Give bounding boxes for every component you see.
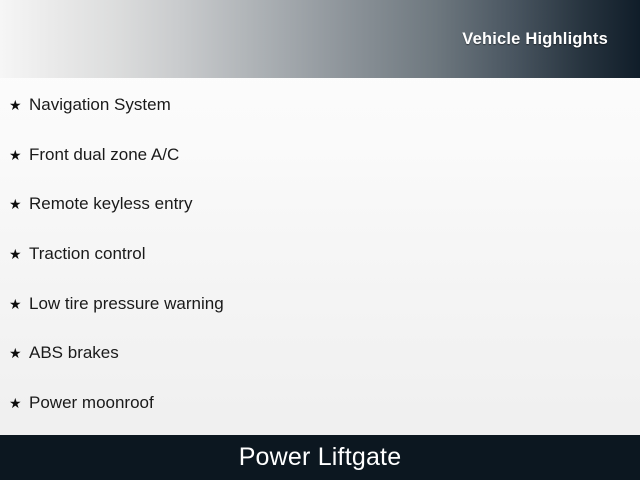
page-title: Vehicle Highlights	[462, 31, 608, 48]
star-icon: ★	[9, 148, 29, 162]
star-icon: ★	[9, 396, 29, 410]
header-banner: Vehicle Highlights	[0, 0, 640, 78]
list-item-label: Remote keyless entry	[29, 195, 640, 212]
list-item-label: ABS brakes	[29, 344, 640, 361]
list-item: ★ Remote keyless entry	[0, 195, 640, 245]
list-item-label: Low tire pressure warning	[29, 295, 640, 312]
star-icon: ★	[9, 197, 29, 211]
vehicle-highlights-list: ★ Navigation System ★ Front dual zone A/…	[0, 78, 640, 435]
star-icon: ★	[9, 98, 29, 112]
list-item: ★ ABS brakes	[0, 344, 640, 394]
footer-caption-bar: Power Liftgate	[0, 435, 640, 480]
list-item: ★ Front dual zone A/C	[0, 146, 640, 196]
star-icon: ★	[9, 247, 29, 261]
list-item: ★ Low tire pressure warning	[0, 295, 640, 345]
star-icon: ★	[9, 297, 29, 311]
list-item: ★ Navigation System	[0, 96, 640, 146]
list-item-label: Traction control	[29, 245, 640, 262]
vehicle-highlights-panel: Vehicle Highlights ★ Navigation System ★…	[0, 0, 640, 480]
list-item: ★ Power moonroof	[0, 394, 640, 435]
footer-caption: Power Liftgate	[239, 445, 402, 470]
list-item-label: Navigation System	[29, 96, 640, 113]
list-item-label: Front dual zone A/C	[29, 146, 640, 163]
list-item-label: Power moonroof	[29, 394, 640, 411]
star-icon: ★	[9, 346, 29, 360]
list-item: ★ Traction control	[0, 245, 640, 295]
